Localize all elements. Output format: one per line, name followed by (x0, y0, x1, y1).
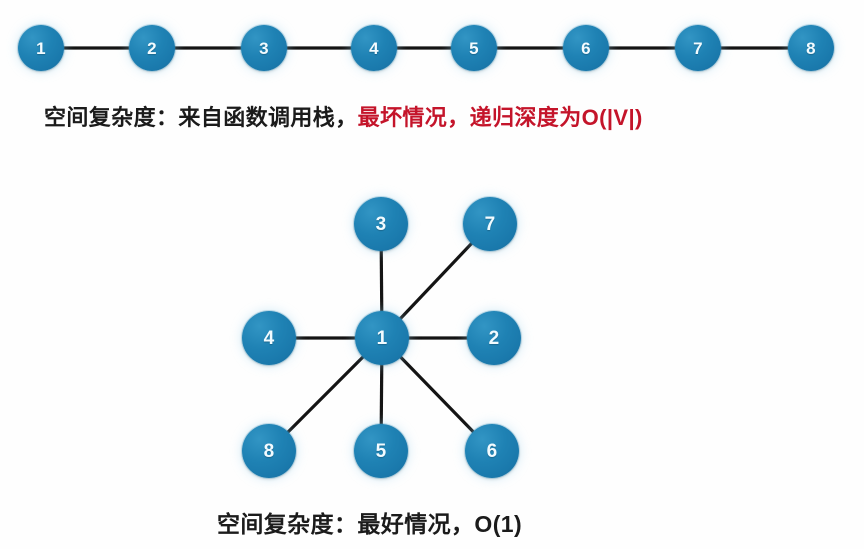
graph-node-8[interactable]: 8 (242, 424, 296, 478)
graph-node-6[interactable]: 6 (465, 424, 519, 478)
caption-best-case: 空间复杂度：最好情况，O(1) (217, 505, 522, 539)
graph-node-label: 2 (489, 329, 500, 348)
graph-node-label: 5 (376, 442, 387, 461)
graph-node-2[interactable]: 2 (467, 311, 521, 365)
graph-node-label: 7 (485, 215, 496, 234)
graph-node-1[interactable]: 1 (355, 311, 409, 365)
graph-node-4[interactable]: 4 (242, 311, 296, 365)
graph-node-label: 8 (264, 442, 275, 461)
graph-node-5[interactable]: 5 (354, 424, 408, 478)
graph-node-label: 6 (487, 442, 498, 461)
graph-node-label: 4 (264, 329, 275, 348)
graph-node-label: 3 (376, 215, 387, 234)
graph-node-3[interactable]: 3 (354, 197, 408, 251)
graph-node-7[interactable]: 7 (463, 197, 517, 251)
graph-node-label: 1 (377, 329, 388, 348)
diagram-canvas: 12345678 空间复杂度：来自函数调用栈，最坏情况，递归深度为O(|V|) … (0, 0, 864, 549)
star-graph-nodes: 13742856 (0, 0, 864, 549)
